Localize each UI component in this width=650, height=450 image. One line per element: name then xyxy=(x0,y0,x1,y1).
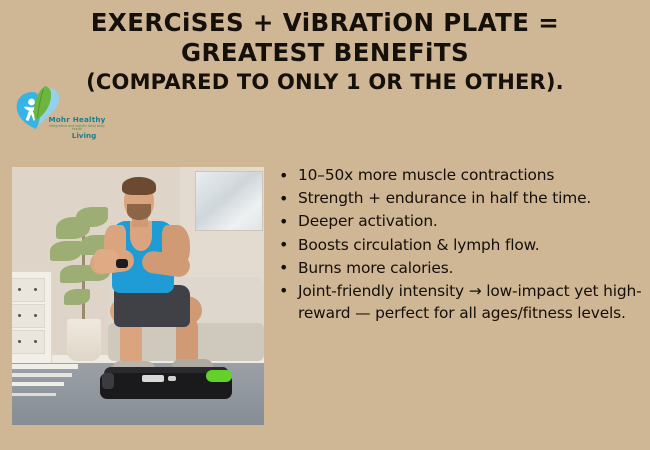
photo-vibration-plate-handle xyxy=(206,370,232,382)
logo-name-line-2: Living xyxy=(60,132,108,140)
photo-vibration-plate-side xyxy=(102,373,114,389)
photo-rug-stripe xyxy=(12,373,72,377)
photo-wall-art xyxy=(195,171,263,231)
photo-person-watch xyxy=(116,259,128,268)
photo-drawer xyxy=(12,304,45,328)
logo-wordmark: Mohr Healthy integrative and holistic to… xyxy=(46,116,108,140)
brand-logo[interactable]: Mohr Healthy integrative and holistic to… xyxy=(10,80,102,148)
list-item: Deeper activation. xyxy=(276,210,644,232)
photo-foliage xyxy=(76,207,108,227)
benefits-list: 10–50x more muscle contractions Strength… xyxy=(276,164,644,325)
photo-rug-stripe xyxy=(12,364,78,369)
slide-canvas: EXERCiSES + ViBRATiON PLATE = GREATEST B… xyxy=(0,0,650,450)
photo-rug-stripe xyxy=(12,382,64,386)
photo-vibration-plate-display xyxy=(142,375,164,382)
photo-person-hair xyxy=(122,177,156,195)
exercise-photo xyxy=(12,167,264,425)
photo-dresser xyxy=(12,271,52,365)
list-item: Joint-friendly intensity → low-impact ye… xyxy=(276,280,644,324)
photo-drawer xyxy=(12,330,45,354)
list-item: 10–50x more muscle contractions xyxy=(276,164,644,186)
title-line-2: GREATEST BENEFiTS xyxy=(0,38,650,68)
list-item: Strength + endurance in half the time. xyxy=(276,187,644,209)
photo-rug-stripe xyxy=(12,393,56,396)
logo-name-line-1: Mohr Healthy xyxy=(46,116,108,124)
photo-vibration-plate-button xyxy=(168,376,176,381)
title-line-1: EXERCiSES + ViBRATiON PLATE = xyxy=(0,8,650,38)
photo-person-hands xyxy=(94,249,118,273)
photo-drawer xyxy=(12,278,45,302)
photo-foliage xyxy=(50,241,82,261)
photo-plant-pot xyxy=(67,319,101,361)
list-item: Boosts circulation & lymph flow. xyxy=(276,234,644,256)
photo-person-beard xyxy=(127,204,151,220)
photo-foliage xyxy=(64,289,90,305)
list-item: Burns more calories. xyxy=(276,257,644,279)
